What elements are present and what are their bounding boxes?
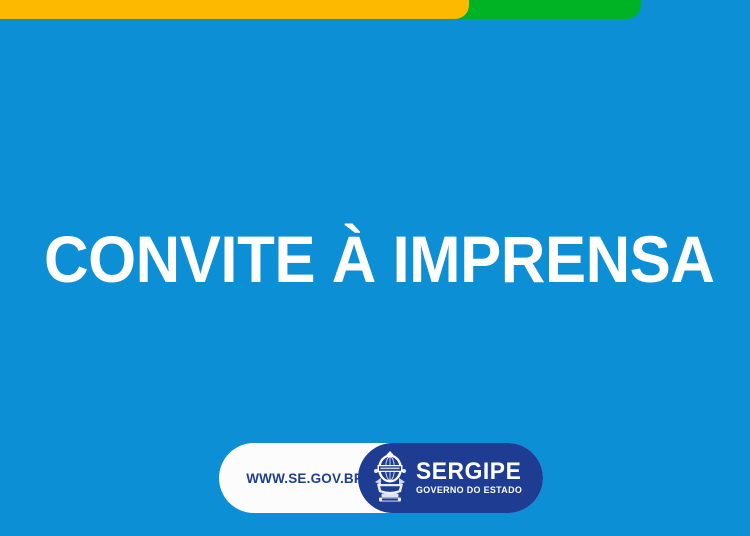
footer-badge: WWW.SE.GOV.BR [219, 443, 543, 513]
brand-text-block: SERGIPE GOVERNO DO ESTADO [416, 460, 527, 495]
website-url-label[interactable]: WWW.SE.GOV.BR [219, 443, 379, 513]
government-brand-panel: SERGIPE GOVERNO DO ESTADO [358, 443, 543, 513]
yellow-bar [0, 0, 469, 19]
sergipe-coat-of-arms-icon [371, 451, 409, 505]
brand-subtitle: GOVERNO DO ESTADO [416, 486, 524, 495]
brand-name: SERGIPE [416, 460, 521, 484]
poster-canvas: CONVITE À IMPRENSA WWW.SE.GOV.BR [0, 0, 750, 536]
page-title: CONVITE À IMPRENSA [44, 218, 680, 300]
